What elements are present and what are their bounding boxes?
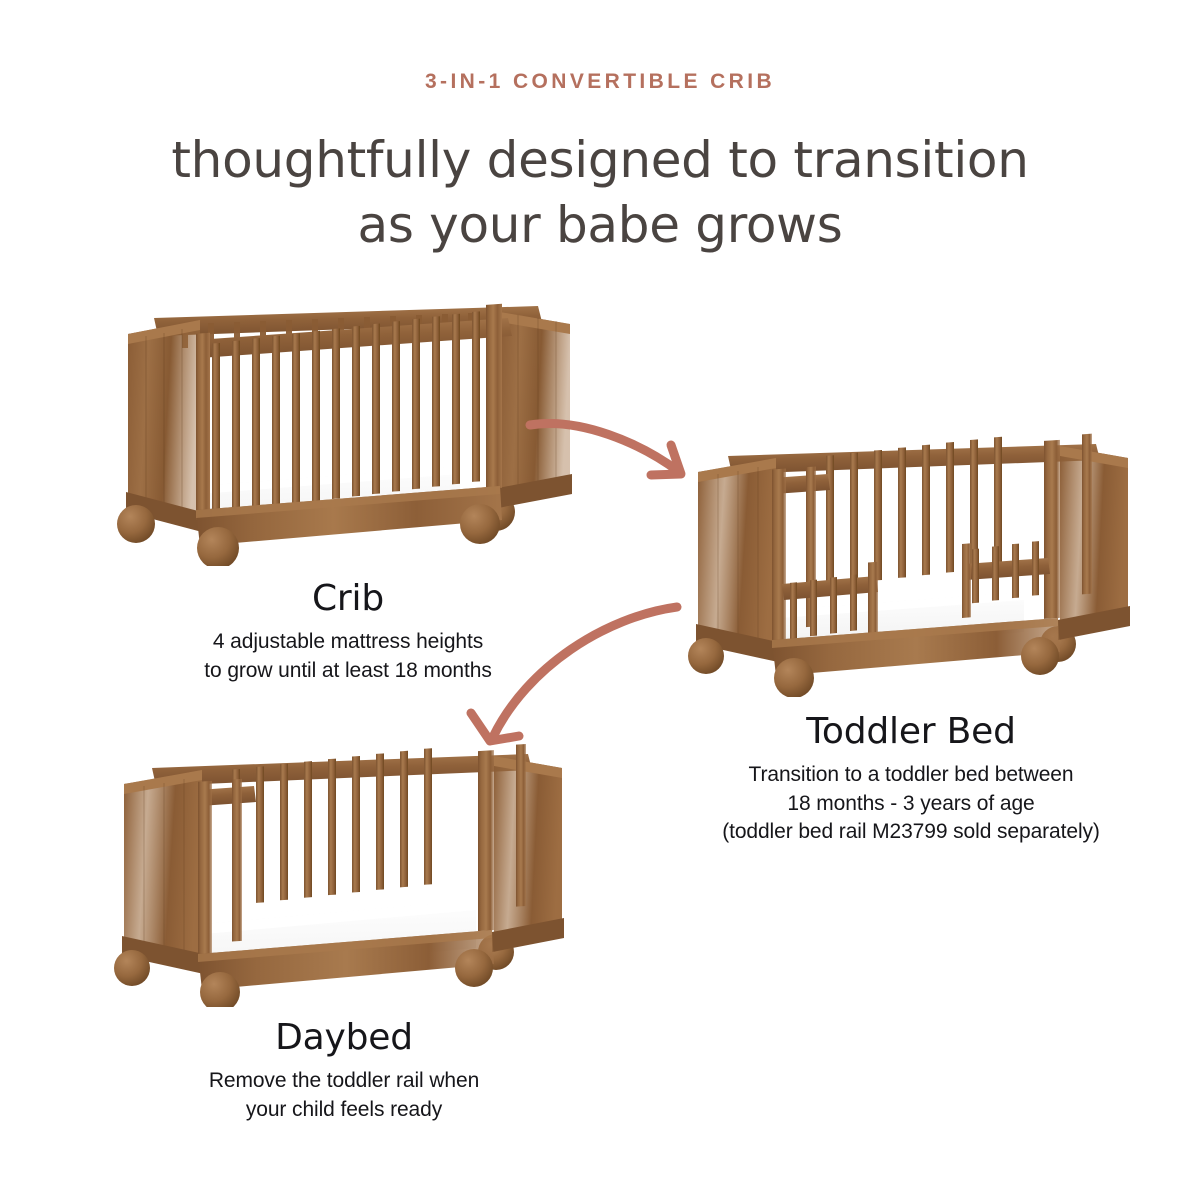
toddler-foot-rear-left (688, 638, 724, 674)
daybed-left-inner-post (232, 779, 242, 942)
crib-caption: Crib 4 adjustable mattress heights to gr… (108, 578, 588, 685)
toddler-front-left-post (772, 469, 786, 648)
crib-front-left-post (196, 333, 210, 520)
toddler-right-inner-post (1082, 434, 1092, 595)
toddler-bed-description-line-1: Transition to a toddler bed between (676, 761, 1146, 790)
toddler-bed-title: Toddler Bed (676, 711, 1146, 752)
crib-description: 4 adjustable mattress heights to grow un… (108, 628, 588, 685)
daybed-foot-rear-left (114, 950, 150, 986)
headline-line-2: as your babe grows (0, 193, 1200, 258)
arrow-head-icon (471, 713, 519, 741)
product-crib: Crib 4 adjustable mattress heights to gr… (108, 296, 588, 685)
crib-illustration (108, 296, 588, 566)
toddler-bed-description-line-2: 18 months - 3 years of age (676, 790, 1146, 819)
crib-front-right-post (486, 304, 502, 489)
toddler-bed-note: (toddler bed rail M23799 sold separately… (676, 818, 1146, 847)
toddler-bed-caption: Toddler Bed Transition to a toddler bed … (676, 711, 1146, 847)
daybed-caption: Daybed Remove the toddler rail when your… (104, 1017, 584, 1124)
crib-foot-rear-left (117, 505, 155, 543)
daybed-title: Daybed (104, 1017, 584, 1058)
toddler-foot-front-left (774, 658, 814, 697)
eyebrow-label: 3-IN-1 CONVERTIBLE CRIB (0, 70, 1200, 94)
headline-line-1: thoughtfully designed to transition (0, 128, 1200, 193)
toddler-front-right-post (1044, 440, 1060, 619)
daybed-illustration (104, 742, 584, 1007)
daybed-description: Remove the toddler rail when your child … (104, 1067, 584, 1124)
daybed-back-slats (232, 748, 432, 905)
toddler-bed-illustration (676, 432, 1146, 697)
daybed-left-panel (124, 770, 202, 956)
product-daybed: Daybed Remove the toddler rail when your… (104, 742, 584, 1124)
crib-description-line-2: to grow until at least 18 months (108, 657, 588, 686)
daybed-front-left-post (198, 781, 212, 962)
crib-foot-front-right (460, 504, 500, 544)
toddler-left-panel (698, 458, 776, 644)
page-title: thoughtfully designed to transition as y… (0, 128, 1200, 258)
daybed-front-right-post (478, 750, 494, 931)
daybed-right-inner-post (516, 744, 526, 907)
toddler-foot-front-right (1021, 637, 1059, 675)
crib-title: Crib (108, 578, 588, 619)
product-toddler-bed: Toddler Bed Transition to a toddler bed … (676, 432, 1146, 847)
daybed-description-line-1: Remove the toddler rail when (104, 1067, 584, 1096)
crib-description-line-1: 4 adjustable mattress heights (108, 628, 588, 657)
toddler-bed-description: Transition to a toddler bed between 18 m… (676, 761, 1146, 818)
daybed-description-line-2: your child feels ready (104, 1096, 584, 1125)
daybed-foot-front-right (455, 949, 493, 987)
